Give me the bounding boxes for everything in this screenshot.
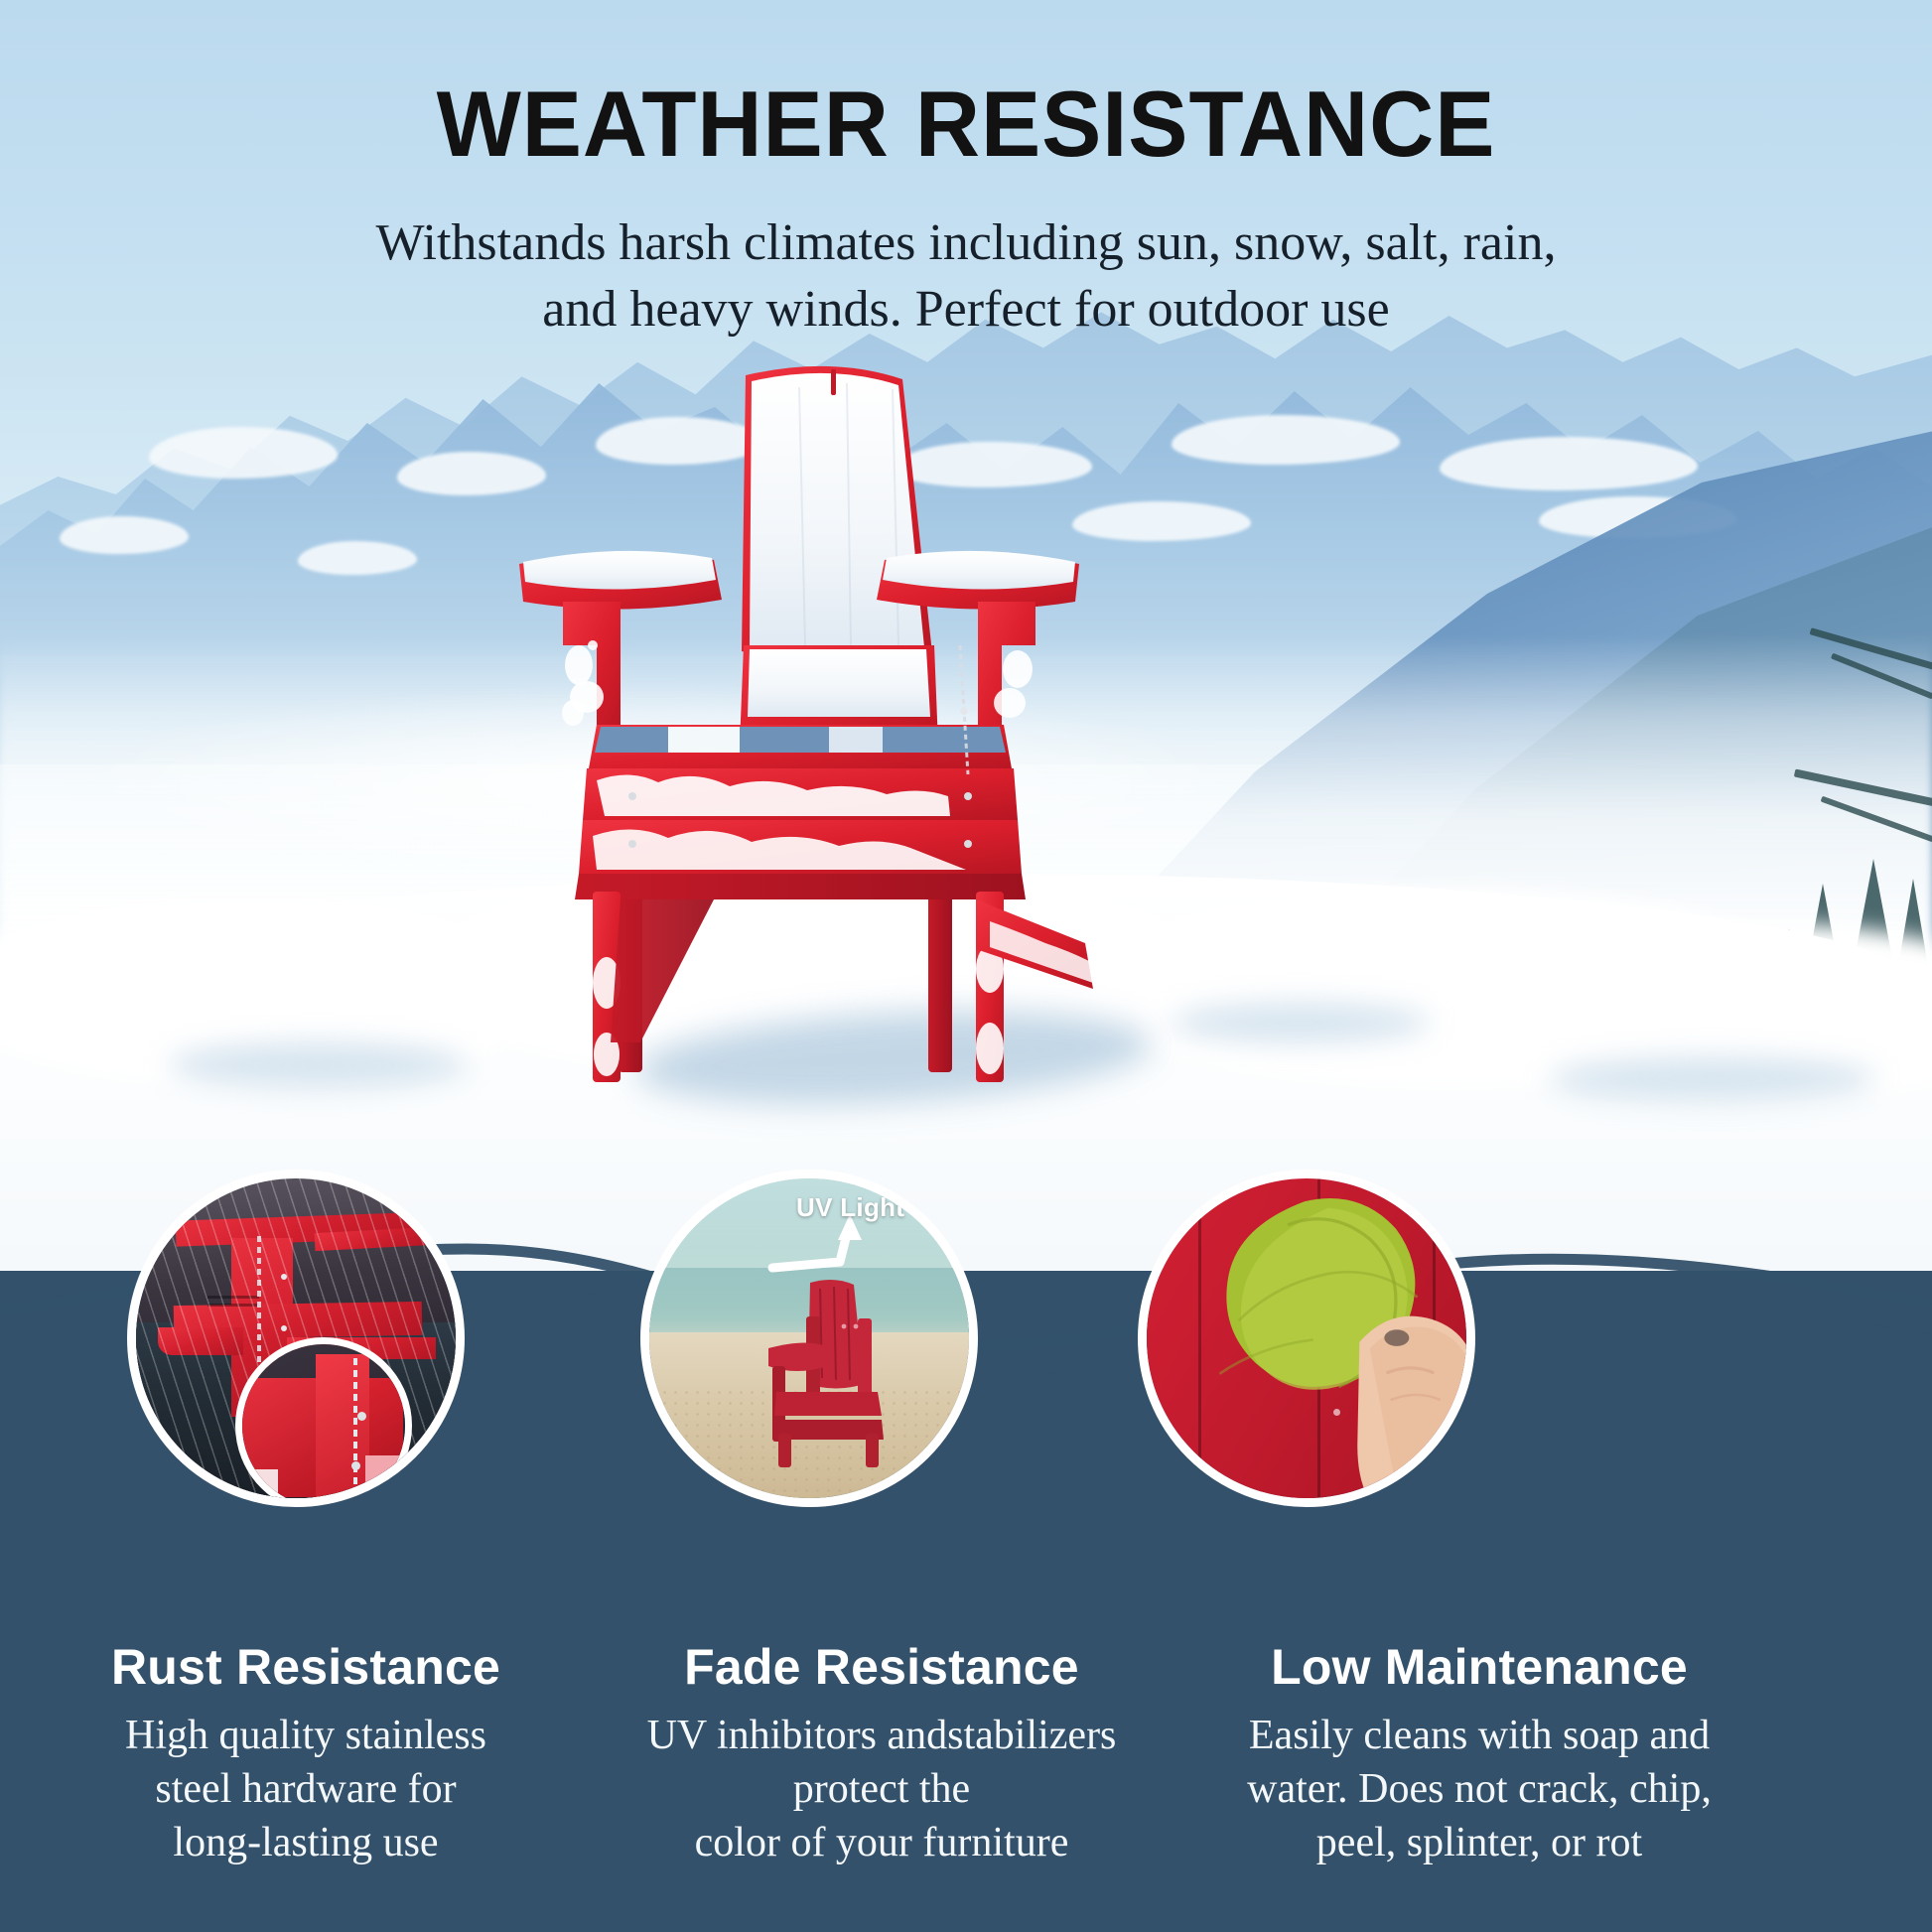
snowcap bbox=[1072, 501, 1251, 541]
snowcap bbox=[1172, 415, 1400, 465]
feature-body-line: steel hardware for bbox=[28, 1763, 584, 1817]
feature-body-low-maintenance: Easily cleans with soap and water. Does … bbox=[1172, 1710, 1787, 1869]
snowcap bbox=[298, 541, 417, 575]
snowcap bbox=[60, 516, 189, 554]
feature-image-rust-resistance bbox=[127, 1170, 465, 1507]
feature-image-low-maintenance bbox=[1138, 1170, 1475, 1507]
rust-resistance-zoom-inset bbox=[235, 1337, 412, 1507]
feature-body-line: protect the bbox=[584, 1763, 1179, 1817]
feature-body-line: long-lasting use bbox=[28, 1817, 584, 1870]
uv-light-label: UV Light bbox=[796, 1192, 904, 1223]
pine-branch bbox=[1821, 796, 1932, 843]
feature-body-line: High quality stainless bbox=[28, 1710, 584, 1763]
feature-body-line: color of your furniture bbox=[584, 1817, 1179, 1870]
subtitle-line-1: Withstands harsh climates including sun,… bbox=[0, 210, 1932, 277]
feature-title-fade-resistance: Fade Resistance bbox=[584, 1638, 1179, 1696]
feature-title-rust-resistance: Rust Resistance bbox=[28, 1638, 584, 1696]
snowcap bbox=[149, 427, 338, 479]
hand bbox=[1331, 1274, 1475, 1507]
beach-chair-illustration bbox=[749, 1270, 947, 1478]
feature-body-line: water. Does not crack, chip, bbox=[1172, 1763, 1787, 1817]
hero-product-chair bbox=[501, 347, 1097, 1082]
pine-branch bbox=[1794, 768, 1932, 807]
feature-body-fade-resistance: UV inhibitors andstabilizers protect the… bbox=[584, 1710, 1179, 1869]
feature-image-fade-resistance: UV Light bbox=[640, 1170, 978, 1507]
snow-shadow bbox=[169, 1042, 467, 1088]
infographic-poster: WEATHER RESISTANCE Withstands harsh clim… bbox=[0, 0, 1932, 1932]
subtitle-line-2: and heavy winds. Perfect for outdoor use bbox=[0, 277, 1932, 344]
snow-shadow bbox=[1549, 1057, 1876, 1101]
snow-shadow bbox=[1172, 1003, 1430, 1042]
feature-body-rust-resistance: High quality stainless steel hardware fo… bbox=[28, 1710, 584, 1869]
page-title: WEATHER RESISTANCE bbox=[39, 77, 1893, 171]
feature-body-line: peel, splinter, or rot bbox=[1172, 1817, 1787, 1870]
snowcap bbox=[1440, 437, 1698, 490]
feature-body-line: Easily cleans with soap and bbox=[1172, 1710, 1787, 1763]
feature-title-low-maintenance: Low Maintenance bbox=[1172, 1638, 1787, 1696]
page-subtitle: Withstands harsh climates including sun,… bbox=[0, 210, 1932, 343]
feature-body-line: UV inhibitors andstabilizers bbox=[584, 1710, 1179, 1763]
